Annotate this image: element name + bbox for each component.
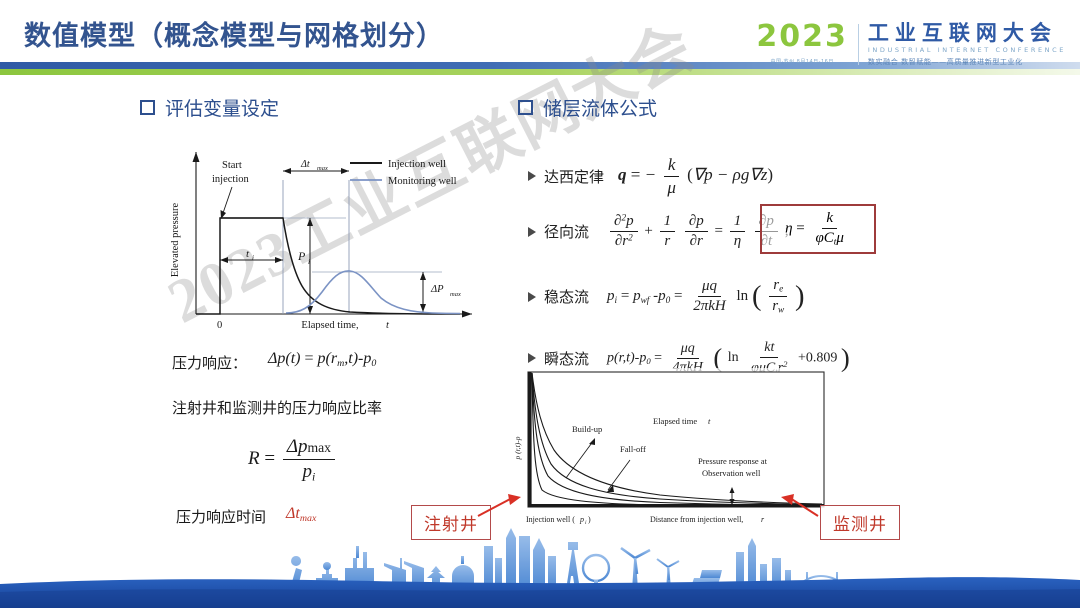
callout-monitoring-well: 监测井 (820, 505, 900, 540)
svg-text:Observation well: Observation well (702, 468, 761, 478)
header-rule-green (0, 69, 1080, 75)
formula-radial-label: 径向流 (544, 221, 589, 242)
footer-sea-wave (0, 589, 1080, 608)
svg-text:Elapsed time,: Elapsed time, (301, 320, 358, 330)
svg-text:max: max (317, 165, 328, 172)
svg-text:i: i (252, 254, 254, 262)
svg-text:Build-up: Build-up (572, 424, 602, 434)
section-head-left-label: 评估变量设定 (165, 94, 279, 121)
svg-text:Δt: Δt (300, 159, 310, 170)
page-title: 数值模型（概念模型与网格划分） (24, 14, 444, 53)
logo-date-line: 中国·苏州 8月14日-16日 (770, 58, 833, 65)
svg-text:Distance from injection well,: Distance from injection well, (650, 515, 743, 524)
logo-name-en: INDUSTRIAL INTERNET CONFERENCE (868, 46, 1066, 54)
svg-text:Start: Start (222, 160, 242, 171)
chart-elevated-pressure-svg: Elevated pressure Δt max t i P (160, 140, 480, 330)
formula-darcy-label: 达西定律 (544, 166, 604, 187)
chart-pressure-vs-distance-svg: p (r,t)-p Build-up Fall-off Elapsed time… (510, 368, 835, 533)
arrow-bullet-icon (528, 353, 536, 363)
logo-year-block: 2023 中国·苏州 8月14日-16日 (756, 22, 858, 65)
pressure-response-label: 压力响应： (172, 352, 247, 373)
chart-elevated-pressure: Elevated pressure Δt max t i P (160, 140, 480, 330)
arrow-bullet-icon (528, 227, 536, 237)
logo-name-cn: 工业互联网大会 (868, 22, 1066, 44)
svg-text:ΔP: ΔP (430, 284, 444, 295)
svg-text:Elevated pressure: Elevated pressure (170, 202, 181, 277)
arrow-bullet-icon (528, 292, 536, 302)
svg-text:Injection well: Injection well (388, 159, 446, 170)
svg-text:r: r (761, 515, 765, 524)
svg-text:max: max (450, 291, 461, 298)
ratio-description: 注射井和监测井的压力响应比率 (172, 397, 382, 418)
formula-darcy-row: 达西定律 q = − kμ (∇p − ρg∇z) (528, 155, 773, 197)
svg-text:P: P (297, 249, 306, 263)
svg-text:t: t (386, 320, 390, 330)
svg-text:): ) (588, 515, 591, 524)
footer-sea (0, 577, 1080, 608)
section-head-left: 评估变量设定 (140, 94, 279, 121)
formula-darcy-expression: q = − kμ (∇p − ρg∇z) (618, 155, 773, 197)
pressure-response-equation: Δp(t) = p(rm,t)-p0 (268, 350, 376, 369)
svg-text:0: 0 (217, 320, 222, 330)
logo-slogan: 数实融合 数智赋能——高质量推进新型工业化 (868, 57, 1066, 67)
formula-steady-expression: pi = pwf -p0 = μq2πkH ln ( rerw ) (607, 277, 804, 317)
square-bullet-icon (518, 100, 533, 115)
svg-text:p: p (579, 515, 584, 524)
svg-text:injection: injection (212, 174, 249, 185)
slide-canvas: 数值模型（概念模型与网格划分） 2023 中国·苏州 8月14日-16日 工业互… (0, 0, 1080, 608)
eta-formula-box: η = kφCtμ (760, 204, 876, 254)
logo-name-block: 工业互联网大会 INDUSTRIAL INTERNET CONFERENCE 数… (868, 22, 1066, 67)
formula-transient-label: 瞬态流 (544, 348, 589, 369)
formula-radial-row: 径向流 ∂2p∂r2 + 1r ∂p∂r = 1η ∂p∂t ; (528, 213, 789, 251)
response-time-label: 压力响应时间 (176, 506, 266, 527)
eta-expression: η = kφCtμ (785, 210, 851, 249)
svg-text:Pressure response at: Pressure response at (698, 456, 768, 466)
arrow-bullet-icon (528, 171, 536, 181)
svg-text:Injection well (: Injection well ( (526, 515, 575, 524)
square-bullet-icon (140, 100, 155, 115)
conference-logo: 2023 中国·苏州 8月14日-16日 工业互联网大会 INDUSTRIAL … (756, 22, 1066, 67)
callout-injection-well: 注射井 (411, 505, 491, 540)
svg-text:Fall-off: Fall-off (620, 444, 646, 454)
svg-text:i: i (308, 257, 310, 266)
section-head-right: 储层流体公式 (518, 94, 657, 121)
chart-pressure-vs-distance: p (r,t)-p Build-up Fall-off Elapsed time… (510, 368, 835, 533)
svg-text:Elapsed time: Elapsed time (653, 416, 697, 426)
svg-text:t: t (246, 248, 250, 260)
section-head-right-label: 储层流体公式 (543, 94, 657, 121)
logo-divider (858, 24, 859, 65)
svg-text:p (r,t)-p: p (r,t)-p (513, 436, 522, 460)
formula-steady-row: 稳态流 pi = pwf -p0 = μq2πkH ln ( rerw ) (528, 277, 804, 317)
formula-steady-label: 稳态流 (544, 286, 589, 307)
transient-constant: 0.809 (806, 350, 838, 365)
svg-text:Monitoring well: Monitoring well (388, 176, 457, 187)
svg-text:i: i (585, 520, 587, 526)
skyline-buildings (286, 528, 848, 590)
ratio-equation: R = Δpmaxpi (248, 436, 338, 484)
response-time-symbol: Δtmax (286, 505, 316, 524)
logo-year: 2023 (756, 22, 848, 52)
